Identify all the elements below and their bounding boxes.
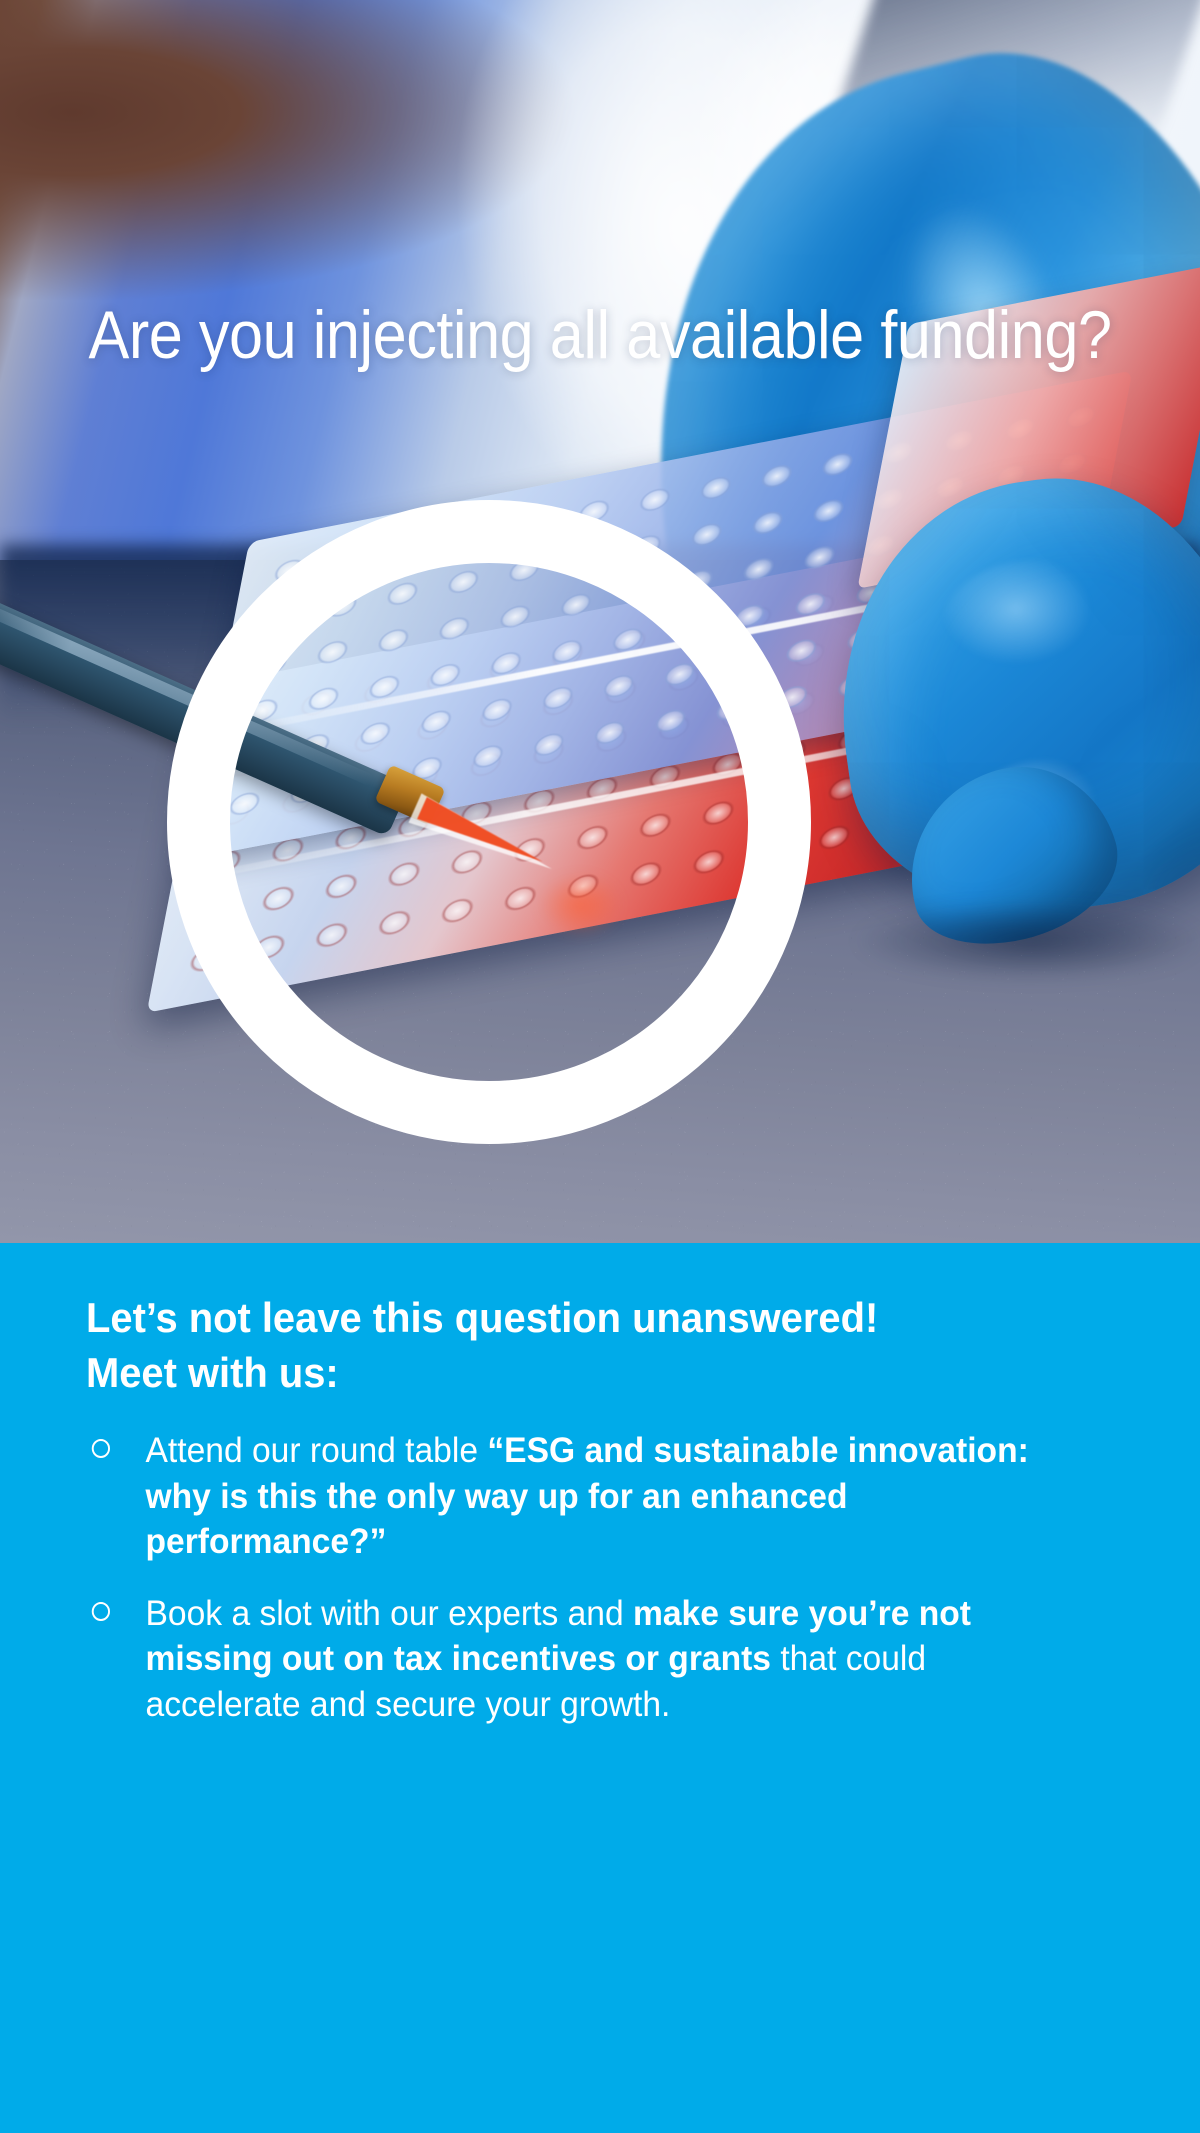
call-to-action-panel: Let’s not leave this question unanswered… <box>0 1243 1200 2133</box>
list-item: Book a slot with our experts and make su… <box>86 1591 1075 1728</box>
panel-heading: Let’s not leave this question unanswered… <box>86 1291 1036 1400</box>
list-item: Attend our round table “ESG and sustaina… <box>86 1428 1075 1565</box>
glove-knuckle-highlight-1 <box>940 560 1130 700</box>
page-title: Are you injecting all available funding? <box>60 300 1140 371</box>
hero-photo: Are you injecting all available funding? <box>0 0 1200 1243</box>
bullet-text-1: Attend our round table “ESG and sustaina… <box>146 1431 1029 1561</box>
bullet-circle-icon <box>92 1439 110 1458</box>
bullet-circle-icon <box>92 1602 110 1621</box>
circle-outline-overlay <box>167 500 811 1144</box>
hand-cast-shadow <box>835 905 1200 995</box>
poster: Are you injecting all available funding?… <box>0 0 1200 2133</box>
bullet-text-2: Book a slot with our experts and make su… <box>146 1594 971 1724</box>
bullet-list: Attend our round table “ESG and sustaina… <box>86 1428 1116 1753</box>
